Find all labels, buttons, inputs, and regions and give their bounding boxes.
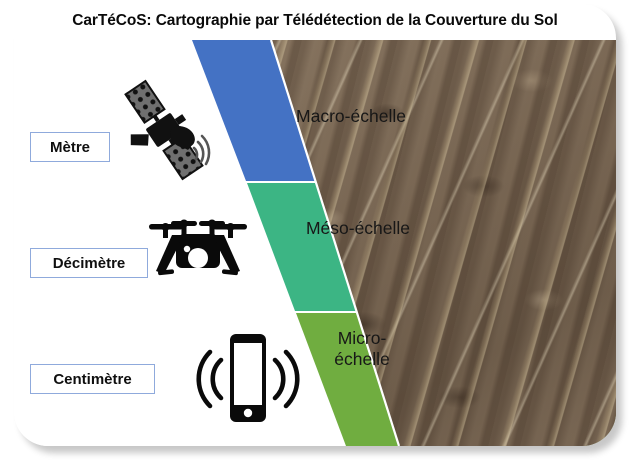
scale-label-metre: Mètre [30, 132, 110, 162]
scale-label-metre-text: Mètre [50, 139, 90, 156]
figure-title: CarTéCoS: Cartographie par Télédétection… [14, 12, 616, 30]
diagram-plate: Macro-échelle Méso-échelle Micro- échell… [14, 40, 616, 446]
scale-label-decimetre: Décimètre [30, 248, 148, 278]
drone-icon [146, 208, 250, 293]
satellite-icon [112, 78, 216, 187]
figure-root: CarTéCoS: Cartographie par Télédétection… [0, 0, 630, 460]
figure-card: CarTéCoS: Cartographie par Télédétection… [14, 4, 616, 446]
scale-label-centimetre: Centimètre [30, 364, 155, 394]
scale-label-decimetre-text: Décimètre [53, 255, 126, 272]
smartphone-icon [194, 326, 302, 435]
scale-label-centimetre-text: Centimètre [53, 371, 131, 388]
